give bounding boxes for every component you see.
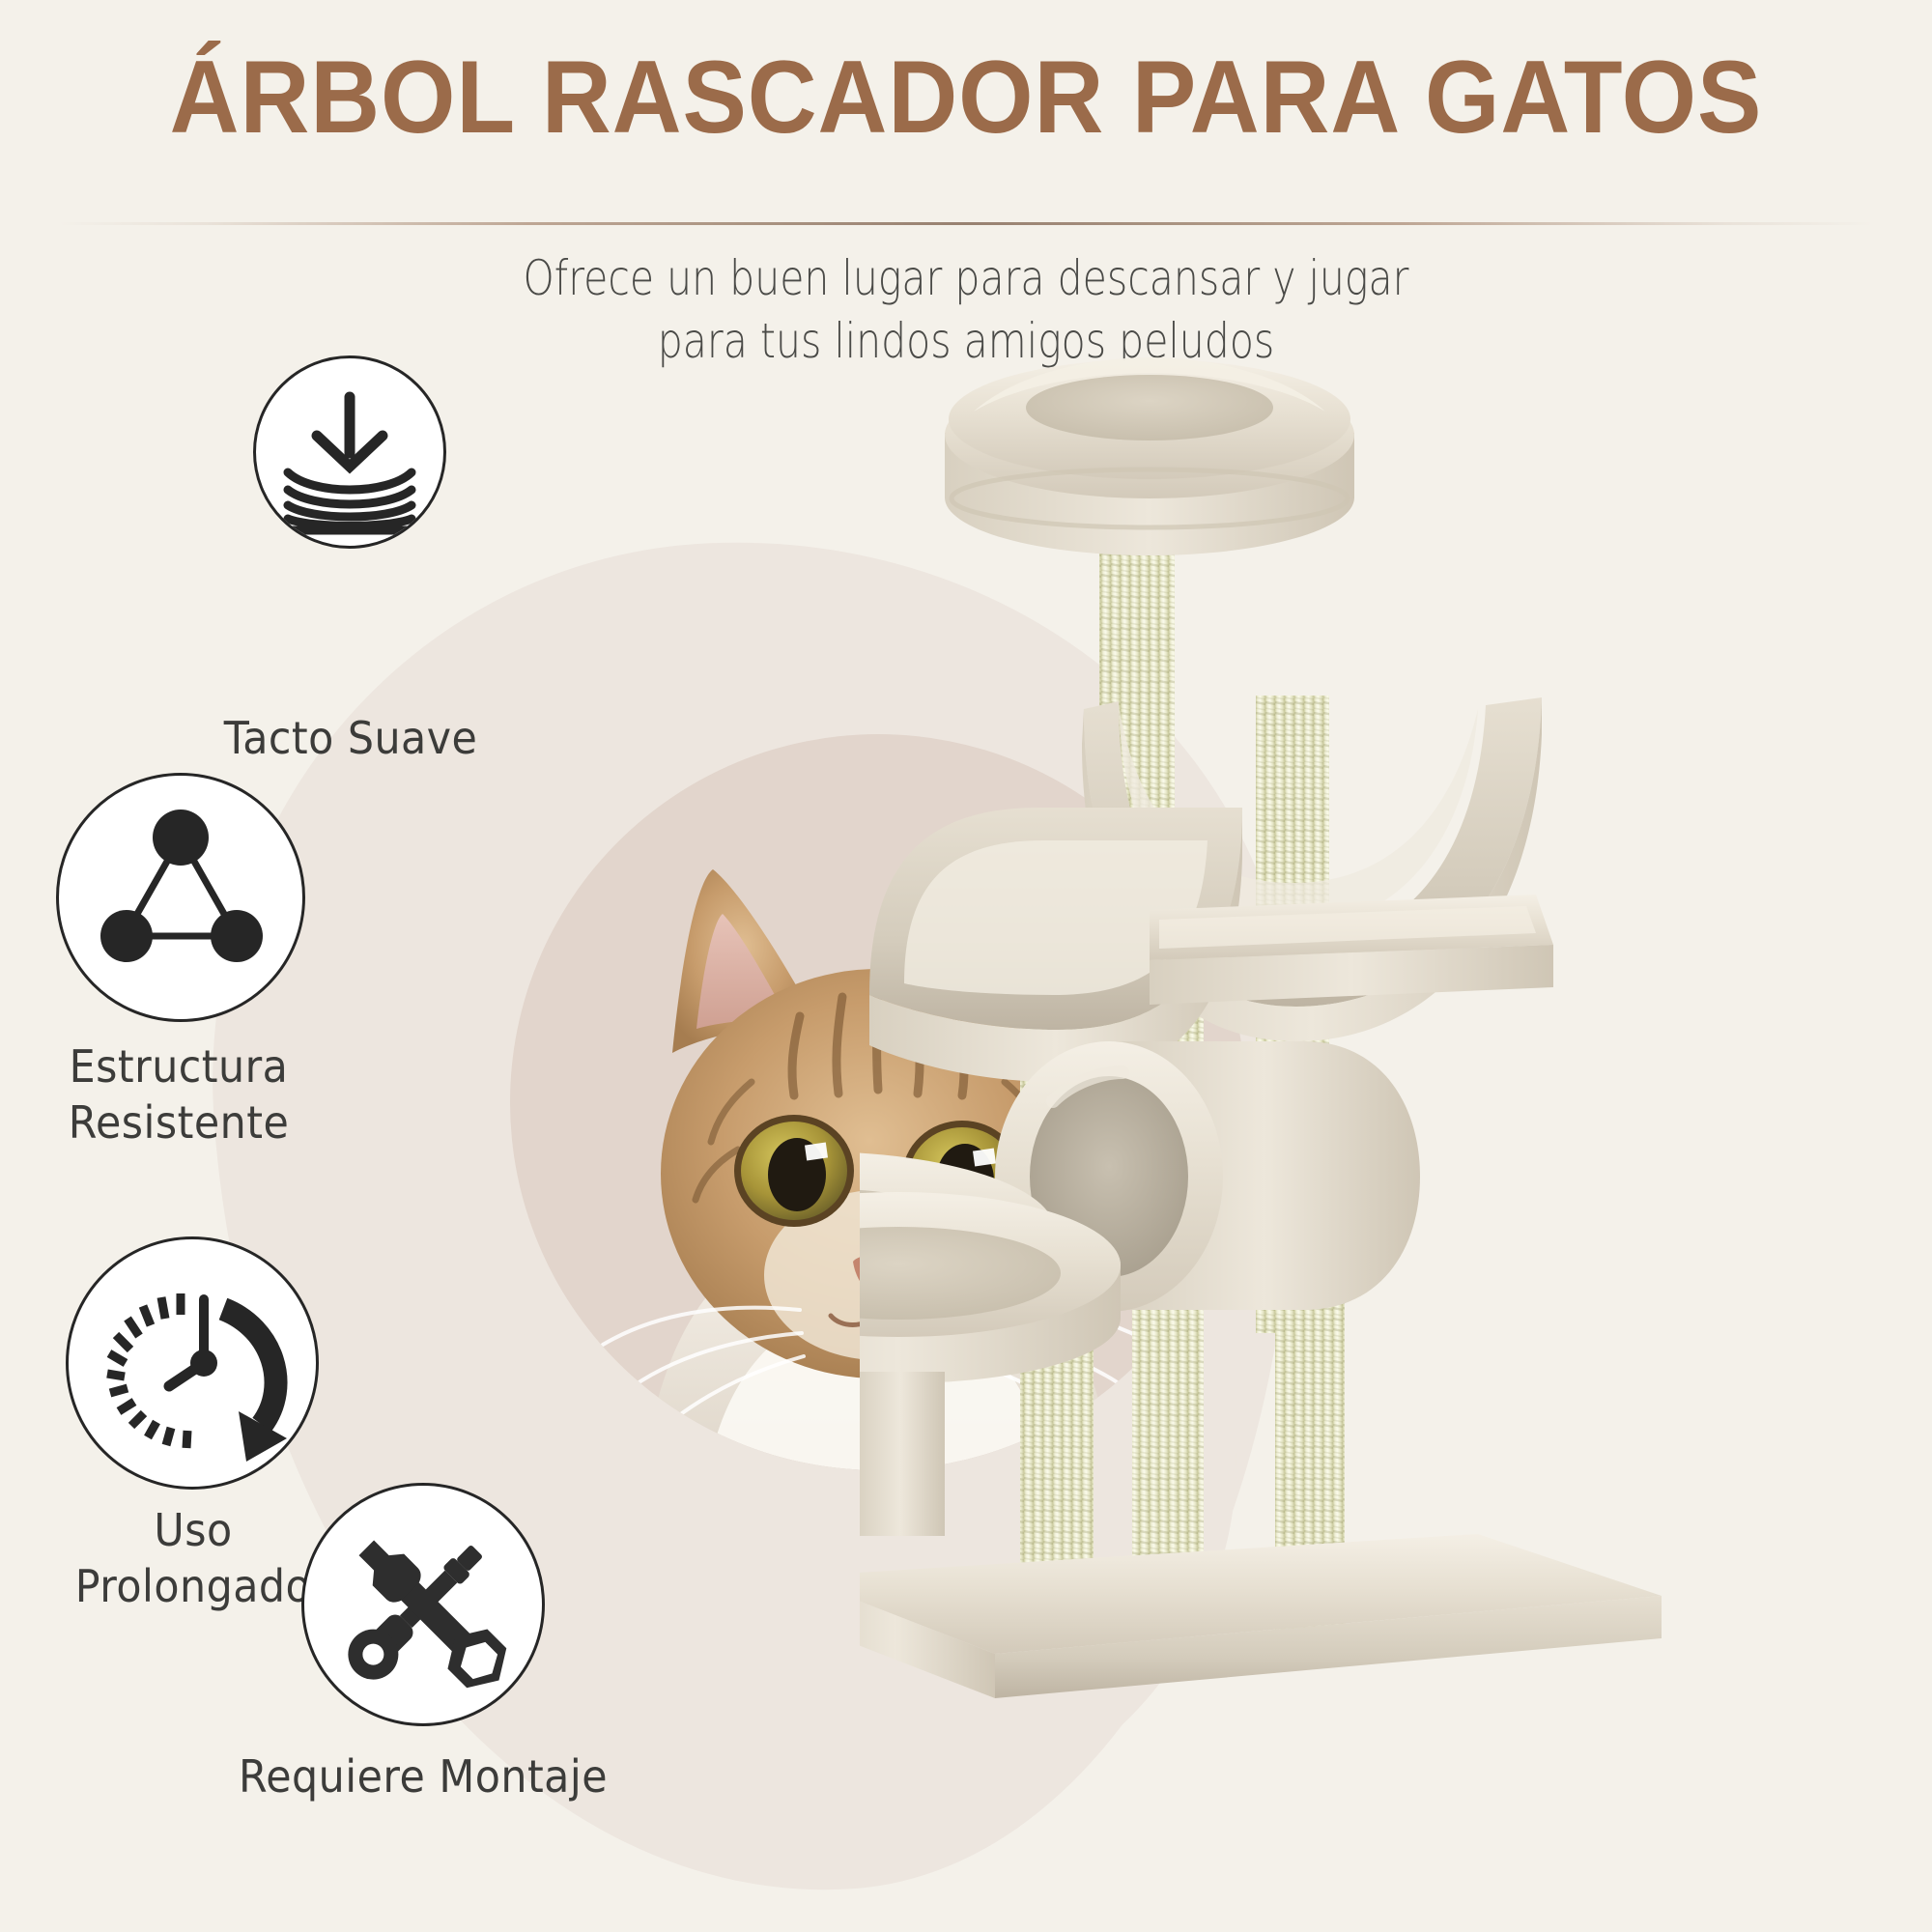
- strong-structure-label: Estructura Resistente: [0, 1038, 377, 1151]
- clock-arrow-icon: [69, 1239, 316, 1487]
- product-image-cat-tree: [860, 319, 1932, 1826]
- assembly-icon-circle: [301, 1483, 545, 1726]
- strong-structure-icon-circle: [56, 773, 305, 1022]
- triangle-nodes-icon: [59, 776, 302, 1019]
- screwdriver-wrench-icon: [304, 1486, 542, 1723]
- soft-touch-label: Tacto Suave: [153, 710, 548, 766]
- base-board: [860, 1534, 1662, 1698]
- top-round-bed: [945, 357, 1354, 555]
- cat-tree-illustration: [860, 319, 1932, 1826]
- flat-platform: [1150, 895, 1553, 1005]
- header-divider: [58, 222, 1874, 225]
- soft-touch-icon-circle: [253, 355, 446, 549]
- infographic-canvas: ÁRBOL RASCADOR PARA GATOS Ofrece un buen…: [0, 0, 1932, 1932]
- page-title: ÁRBOL RASCADOR PARA GATOS: [68, 37, 1864, 156]
- subtitle-line-1: Ofrece un buen lugar para descansar y ju…: [174, 247, 1758, 310]
- press-cushion-icon: [256, 358, 443, 546]
- assembly-label: Requiere Montaje: [225, 1748, 620, 1804]
- long-use-icon-circle: [66, 1236, 319, 1490]
